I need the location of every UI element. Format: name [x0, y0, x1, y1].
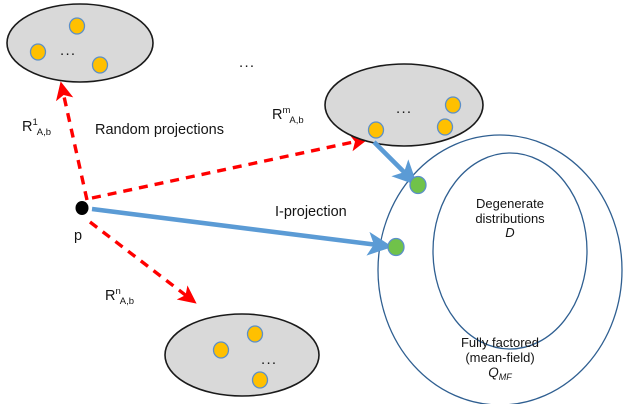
degenerate-inner-circle: [433, 153, 587, 349]
arrow-random-projection-n: [90, 222, 188, 297]
green-dot-projection-m: [410, 177, 426, 194]
r-m-subscript: A,b: [289, 115, 303, 126]
projection-space-bottom: [165, 314, 319, 396]
orange-dot: [438, 119, 453, 135]
ellipsis-between-ellipses: ...: [239, 55, 255, 70]
r-1-base: R: [22, 119, 32, 135]
ellipsis-top-right-ellipse: ...: [396, 101, 412, 116]
random-projections-label: Random projections: [95, 122, 224, 138]
arrow-projected-to-green: [374, 142, 407, 175]
source-distribution-point: [76, 201, 89, 215]
r-n-base: R: [105, 288, 115, 304]
r-n-label: RnA,b: [105, 288, 134, 304]
arrow-random-projection-1: [63, 92, 87, 200]
arrow-random-projection-m: [92, 141, 358, 198]
green-dot-i-projection: [388, 239, 404, 256]
blue-solid-arrows: [92, 142, 407, 245]
r-1-subscript: A,b: [37, 127, 51, 138]
orange-dot: [369, 122, 384, 138]
green-dots-group: [388, 177, 426, 256]
orange-dot: [70, 18, 85, 34]
orange-dot: [214, 342, 229, 358]
orange-dot: [248, 326, 263, 342]
r-m-label: RmA,b: [272, 107, 304, 123]
ellipsis-bottom-ellipse: ...: [261, 352, 277, 367]
orange-dot: [93, 57, 108, 73]
i-projection-label: I-projection: [275, 204, 347, 220]
figure-canvas: ... ... ... ... Random projections I-pro…: [0, 0, 634, 404]
degenerate-line-1: Degenerate: [452, 197, 568, 212]
degenerate-symbol: D: [452, 226, 568, 241]
ellipsis-top-left-ellipse: ...: [60, 43, 76, 58]
orange-dot: [31, 44, 46, 60]
r-n-subscript: A,b: [120, 296, 134, 307]
degenerate-distributions-block: Degenerate distributions D: [452, 197, 568, 241]
fully-factored-block: Fully factored (mean-field) QMF: [440, 336, 560, 380]
r-m-base: R: [272, 107, 282, 123]
projection-space-top-left: [7, 4, 153, 82]
orange-dot: [253, 372, 268, 388]
q-base: Q: [488, 365, 499, 380]
orange-dot: [446, 97, 461, 113]
fully-factored-line-1: Fully factored: [440, 336, 560, 351]
q-subscript: MF: [499, 372, 512, 382]
source-point-label: p: [74, 228, 82, 244]
r-1-label: R1A,b: [22, 119, 51, 135]
degenerate-line-2: distributions: [452, 212, 568, 227]
fully-factored-symbol: QMF: [440, 365, 560, 380]
fully-factored-line-2: (mean-field): [440, 351, 560, 366]
